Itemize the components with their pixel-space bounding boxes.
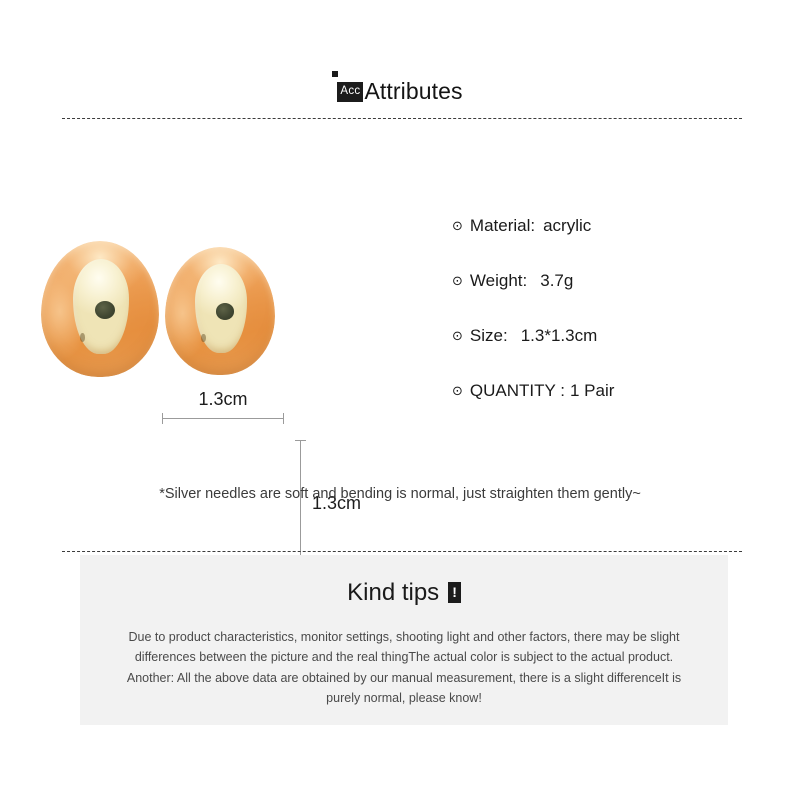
divider-top — [62, 118, 742, 119]
earring-rim-shading — [165, 247, 275, 375]
divider-bottom — [62, 551, 742, 552]
product-image-area: 1.3cm 1.3cm — [0, 190, 420, 420]
earring-rim-shading — [41, 241, 159, 377]
spec-label: QUANTITY : — [470, 381, 565, 401]
bullet-icon: ⊙ — [452, 329, 463, 342]
spec-row-quantity: ⊙ QUANTITY : 1 Pair — [452, 381, 772, 436]
spec-value: 1 Pair — [570, 381, 614, 401]
spec-label: Material: — [470, 216, 535, 236]
dimension-width-label: 1.3cm — [162, 389, 284, 410]
bullet-icon: ⊙ — [452, 274, 463, 287]
kind-tips-body: Due to product characteristics, monitor … — [120, 627, 688, 708]
product-earring-left — [41, 241, 159, 377]
dimension-width-line — [162, 418, 284, 419]
bullet-icon: ⊙ — [452, 384, 463, 397]
acc-corner-dot-icon — [332, 71, 338, 77]
page-title: Attributes — [364, 80, 462, 103]
kind-tips-title: Kind tips! — [80, 581, 728, 606]
acc-badge-wrap: Acc — [337, 81, 363, 102]
spec-value: acrylic — [543, 216, 591, 236]
attributes-header: Acc Attributes — [0, 74, 800, 108]
spec-value: 1.3*1.3cm — [521, 326, 598, 346]
spec-row-material: ⊙ Material: acrylic — [452, 216, 772, 271]
spec-value: 3.7g — [540, 271, 573, 291]
acc-badge: Acc — [337, 82, 363, 103]
spec-label: Weight: — [470, 271, 527, 291]
spec-row-weight: ⊙ Weight: 3.7g — [452, 271, 772, 326]
silver-needle-note: *Silver needles are soft and bending is … — [0, 486, 800, 502]
dimension-height-line — [300, 440, 301, 568]
spec-label: Size: — [470, 326, 508, 346]
spec-list: ⊙ Material: acrylic ⊙ Weight: 3.7g ⊙ Siz… — [452, 216, 772, 436]
kind-tips-panel: Kind tips! Due to product characteristic… — [80, 555, 728, 725]
spec-row-size: ⊙ Size: 1.3*1.3cm — [452, 326, 772, 381]
bullet-icon: ⊙ — [452, 219, 463, 232]
product-earring-right — [165, 247, 275, 375]
kind-tips-title-text: Kind tips — [347, 579, 439, 606]
exclamation-icon: ! — [448, 582, 461, 603]
